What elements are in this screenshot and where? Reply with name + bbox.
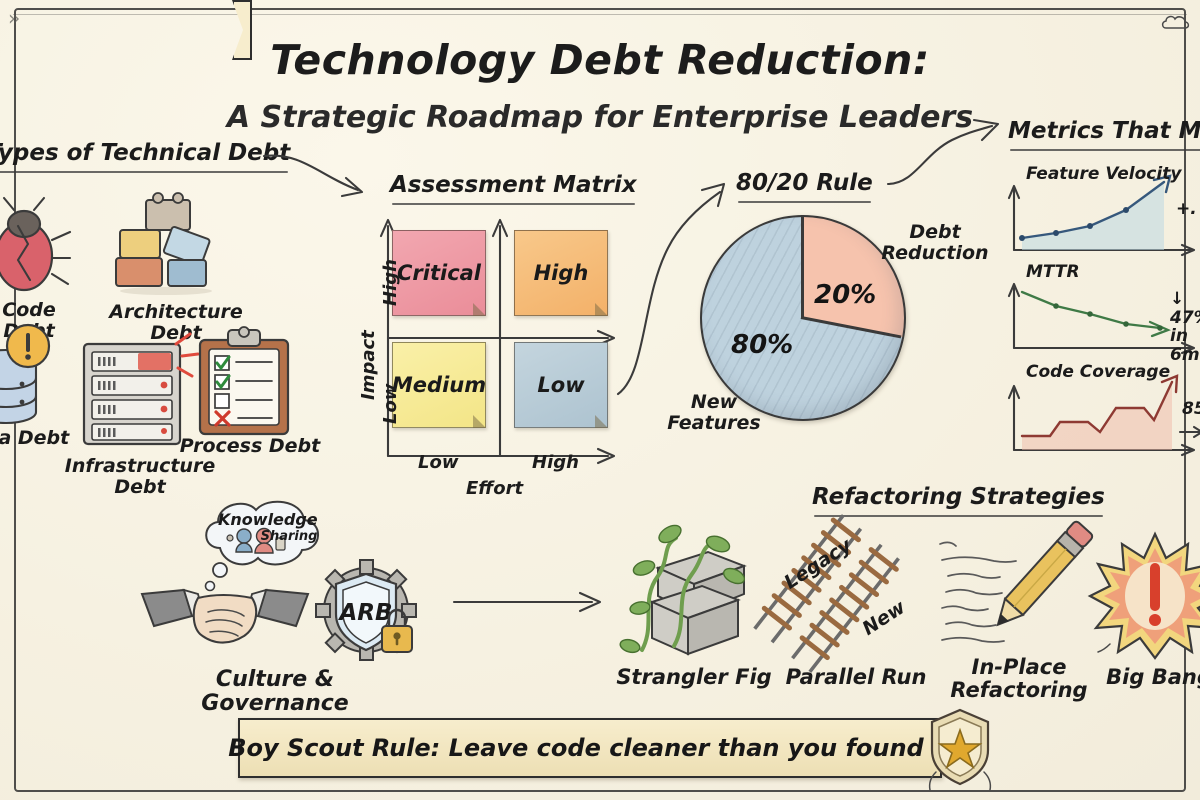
arrow-culture-to-refactoring-icon bbox=[452, 588, 612, 616]
blocks-icon bbox=[108, 196, 218, 296]
matrix-y-axis-title: Impact bbox=[358, 330, 379, 400]
bubble-label-knowledge: Knowledge bbox=[218, 511, 310, 528]
metric-label-feature-velocity: Feature Velocity bbox=[1026, 164, 1181, 184]
arb-shield-text: ARB bbox=[337, 600, 392, 626]
metric-mttr: MTTR ↓ 47% in 6m bbox=[1004, 264, 1200, 356]
database-warning-icon bbox=[0, 326, 70, 434]
metrics-panel: Feature Velocity +. MTTR ↓ 47% in 6m Cod… bbox=[1004, 160, 1200, 460]
banner-text: Boy Scout Rule: Leave code cleaner than … bbox=[228, 734, 952, 762]
arrow-types-to-matrix-icon bbox=[262, 146, 382, 204]
pencil-notes-icon bbox=[936, 536, 1072, 660]
clipboard-checklist-icon bbox=[192, 326, 296, 438]
server-vines-icon bbox=[622, 530, 762, 658]
matrix-x-axis-high: High bbox=[532, 452, 579, 473]
bug-icon bbox=[0, 200, 70, 296]
explosion-icon bbox=[1090, 534, 1200, 658]
page-title: Technology Debt Reduction: bbox=[0, 36, 1200, 84]
arrow-to-metrics-icon bbox=[886, 118, 1010, 192]
matrix-quadrant-medium[interactable]: Medium bbox=[392, 342, 486, 428]
bubble-label-sharing: Sharing bbox=[252, 530, 326, 544]
matrix-x-axis-title: Effort bbox=[466, 478, 523, 499]
banner-boy-scout-rule: Boy Scout Rule: Leave code cleaner than … bbox=[238, 718, 942, 778]
handshake-icon bbox=[140, 580, 310, 654]
label-parallel-run: Parallel Run bbox=[776, 666, 936, 689]
pie-label-new-features: New Features bbox=[664, 392, 764, 433]
server-rack-icon bbox=[78, 340, 190, 450]
section-heading-matrix: Assessment Matrix bbox=[390, 172, 637, 198]
section-heading-culture: Culture & Governance bbox=[140, 668, 410, 716]
metric-arrow-right-icon bbox=[1180, 424, 1200, 440]
metric-annotation-code-coverage: 85% bbox=[1182, 400, 1200, 419]
assessment-matrix: Critical High Medium Low bbox=[386, 222, 614, 454]
label-in-place-refactoring: In-Place Refactoring bbox=[944, 656, 1094, 701]
arb-shield-gear-icon: ARB bbox=[312, 560, 424, 662]
matrix-y-axis-low: Low bbox=[380, 384, 401, 424]
section-heading-metrics: Metrics That Matter bbox=[1008, 118, 1200, 144]
pie-divider-vertical bbox=[801, 215, 804, 318]
pie-value-new-features: 80% bbox=[731, 330, 793, 360]
section-heading-types: Types of Technical Debt bbox=[0, 140, 290, 166]
label-big-bang: Big Bang bbox=[1094, 666, 1200, 689]
label-infrastructure-debt: Infrastructure Debt bbox=[50, 456, 230, 497]
label-data-debt: Data Debt bbox=[0, 428, 70, 449]
label-process-debt: Process Debt bbox=[170, 436, 330, 457]
doodle-chevron-icon: » bbox=[8, 6, 20, 30]
section-heading-refactoring: Refactoring Strategies bbox=[812, 484, 1105, 510]
matrix-quadrant-low[interactable]: Low bbox=[514, 342, 608, 428]
doodle-cloud-icon bbox=[1160, 10, 1196, 38]
matrix-quadrant-high[interactable]: High bbox=[514, 230, 608, 316]
label-strangler-fig: Strangler Fig bbox=[614, 666, 774, 689]
metric-annotation-mttr: ↓ 47% in 6m bbox=[1170, 290, 1200, 365]
matrix-y-axis-high: High bbox=[380, 259, 401, 306]
star-medal-icon bbox=[918, 706, 1002, 788]
pie-value-debt-reduction: 20% bbox=[814, 280, 876, 310]
matrix-quadrant-critical[interactable]: Critical bbox=[392, 230, 486, 316]
metric-label-code-coverage: Code Coverage bbox=[1026, 362, 1170, 382]
pie-label-debt-reduction: Debt Reduction bbox=[874, 222, 996, 263]
metric-annotation-feature-velocity: +. bbox=[1176, 200, 1197, 219]
metric-feature-velocity: Feature Velocity +. bbox=[1004, 166, 1200, 258]
section-heading-rule: 80/20 Rule bbox=[736, 170, 873, 196]
metric-code-coverage: Code Coverage 85% bbox=[1004, 364, 1200, 456]
matrix-x-axis-low: Low bbox=[418, 452, 458, 473]
metric-label-mttr: MTTR bbox=[1026, 262, 1080, 282]
